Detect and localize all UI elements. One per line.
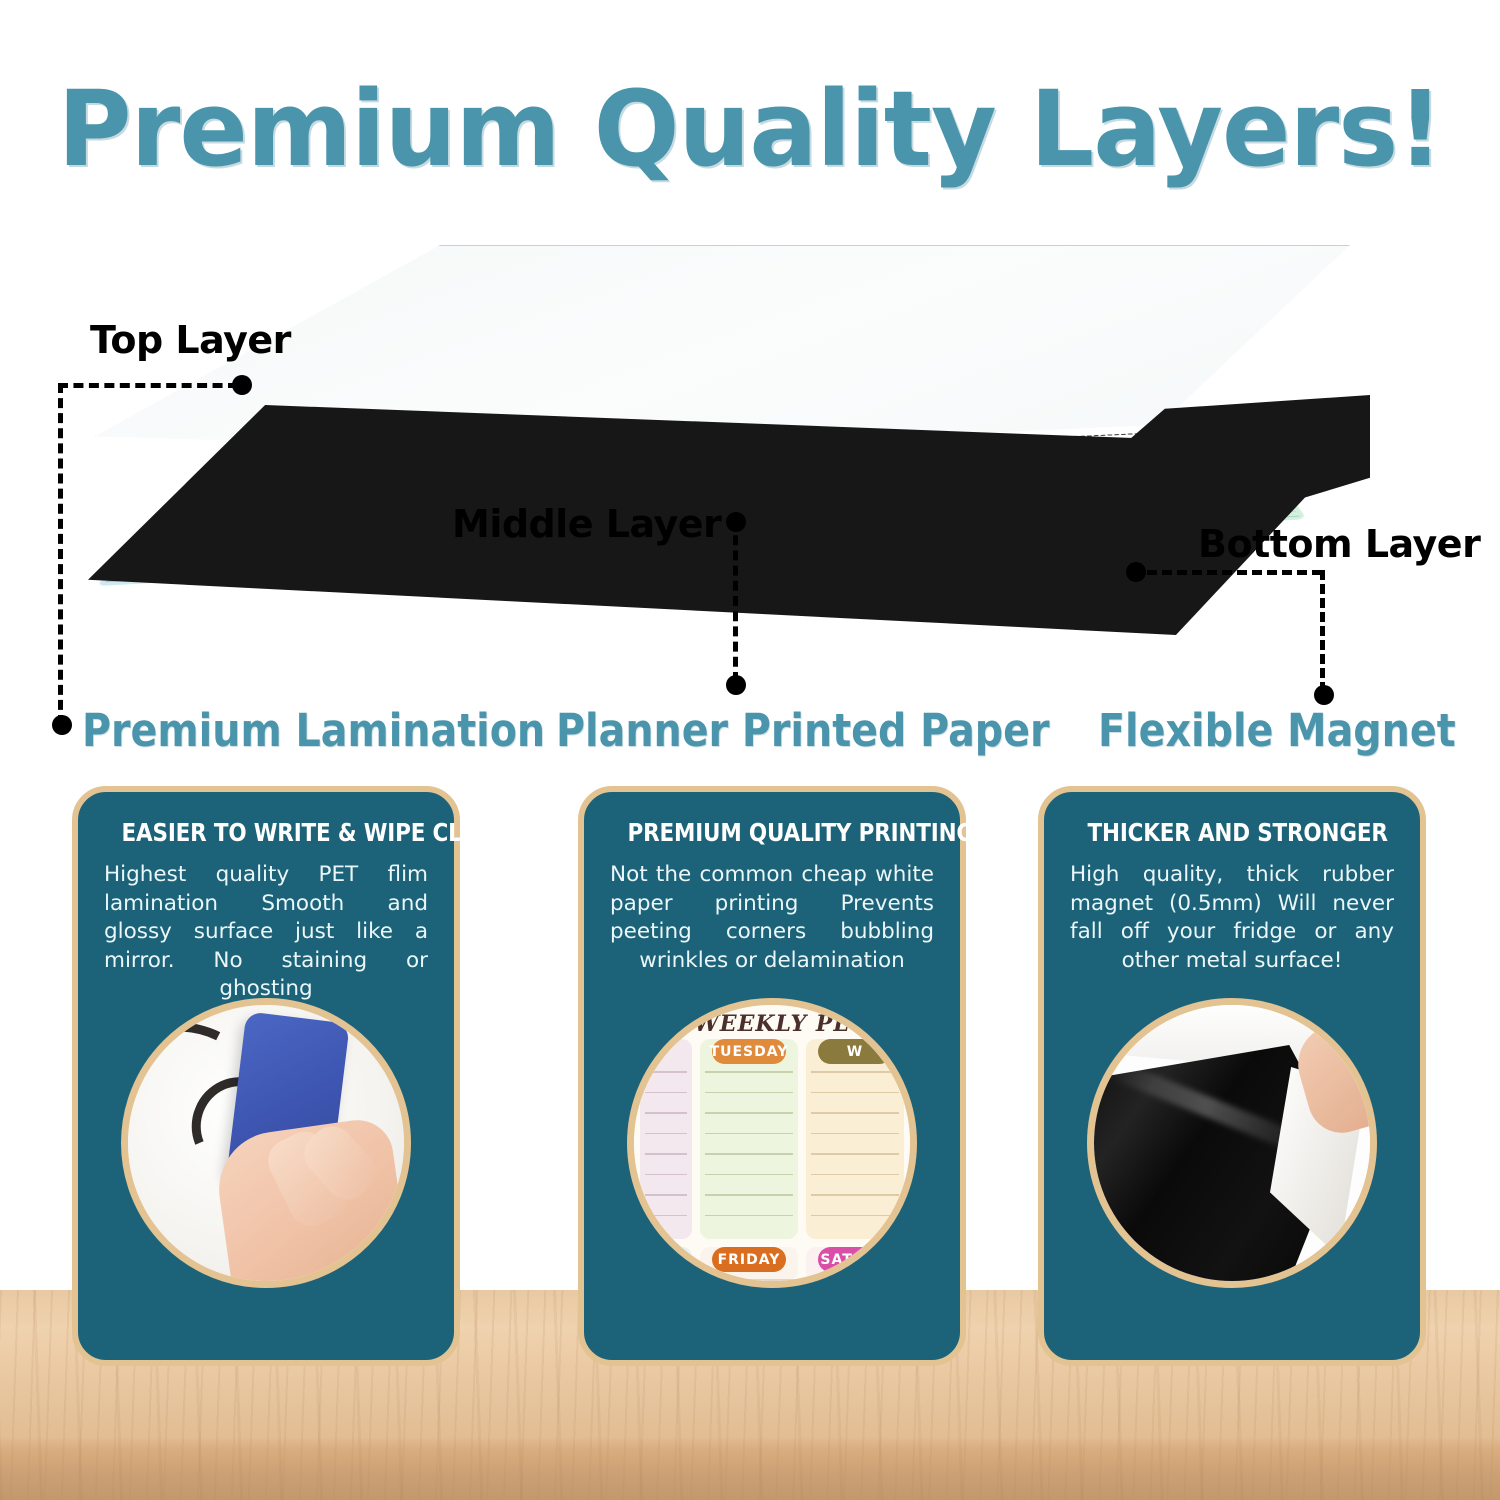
mini-planner-grid: TUESDAYWFRIDAYSATURD	[640, 1039, 904, 1281]
mini-planner-cell	[640, 1247, 692, 1281]
sublabel-planner-printed-paper: Planner Printed Paper	[556, 704, 1050, 757]
callout-dot-top-layer	[232, 375, 252, 395]
callout-dot-bottom-layer	[1126, 562, 1146, 582]
mini-planner-cell: FRIDAY	[700, 1247, 798, 1281]
mini-planner-chip: W	[818, 1039, 892, 1064]
connector-magnet-horizontal	[1132, 570, 1322, 575]
mini-planner-lines	[645, 1071, 687, 1235]
mini-planner-cell: TUESDAY	[700, 1039, 798, 1239]
feature-card-write-wipe-clean: EASIER TO WRITE & WIPE CLEAN Highest qua…	[72, 786, 460, 1366]
mini-planner-lines	[811, 1071, 899, 1235]
planner-closeup-photo: WEEKLY PL TUESDAYWFRIDAYSATURD	[627, 998, 917, 1288]
wood-table-edge	[0, 1452, 1500, 1500]
callout-dot-magnet-end	[1314, 685, 1334, 705]
card-title: PREMIUM QUALITY PRINTING	[628, 818, 917, 847]
mini-planner-cell: SATURD	[806, 1247, 904, 1281]
connector-paper-vertical	[733, 520, 738, 682]
callout-dot-middle-layer	[726, 512, 746, 532]
mini-planner-title: WEEKLY PL	[634, 1011, 910, 1037]
card-title: THICKER AND STRONGER	[1088, 818, 1377, 847]
page-headline: Premium Quality Layers!	[23, 68, 1478, 190]
sublabel-premium-lamination: Premium Lamination	[82, 704, 545, 757]
hand-wiping-eraser-photo	[121, 998, 411, 1288]
label-top-layer: Top Layer	[90, 318, 291, 362]
mini-planner-chip: FRIDAY	[712, 1247, 786, 1272]
sublabel-flexible-magnet: Flexible Magnet	[1098, 704, 1456, 757]
connector-lamination-horizontal	[58, 383, 238, 388]
card-body: High quality, thick rubber magnet (0.5mm…	[1064, 861, 1400, 975]
mini-planner-chip: SATURD	[818, 1247, 892, 1272]
mini-planner-cell	[640, 1039, 692, 1239]
connector-lamination-vertical	[58, 383, 63, 725]
feature-card-premium-printing: PREMIUM QUALITY PRINTING Not the common …	[578, 786, 966, 1366]
connector-magnet-vertical	[1320, 570, 1325, 692]
feature-card-thicker-stronger: THICKER AND STRONGER High quality, thick…	[1038, 786, 1426, 1366]
card-body: Not the common cheap white paper printin…	[604, 861, 940, 975]
mini-planner-lines	[705, 1071, 793, 1235]
callout-dot-lamination-end	[52, 715, 72, 735]
exploded-layers-diagram: WEEKLY PLANNER MONDAYTUESDAYWEDNESDAYSUN…	[0, 210, 1500, 710]
label-middle-layer: Middle Layer	[452, 502, 721, 546]
label-bottom-layer: Bottom Layer	[1198, 522, 1480, 566]
card-body: Highest quality PET flim lamination Smoo…	[98, 861, 434, 1004]
magnet-peel-photo	[1087, 998, 1377, 1288]
mini-planner-cell: W	[806, 1039, 904, 1239]
mini-planner-chip: TUESDAY	[712, 1039, 786, 1064]
card-title: EASIER TO WRITE & WIPE CLEAN	[122, 818, 411, 847]
callout-dot-paper-end	[726, 675, 746, 695]
